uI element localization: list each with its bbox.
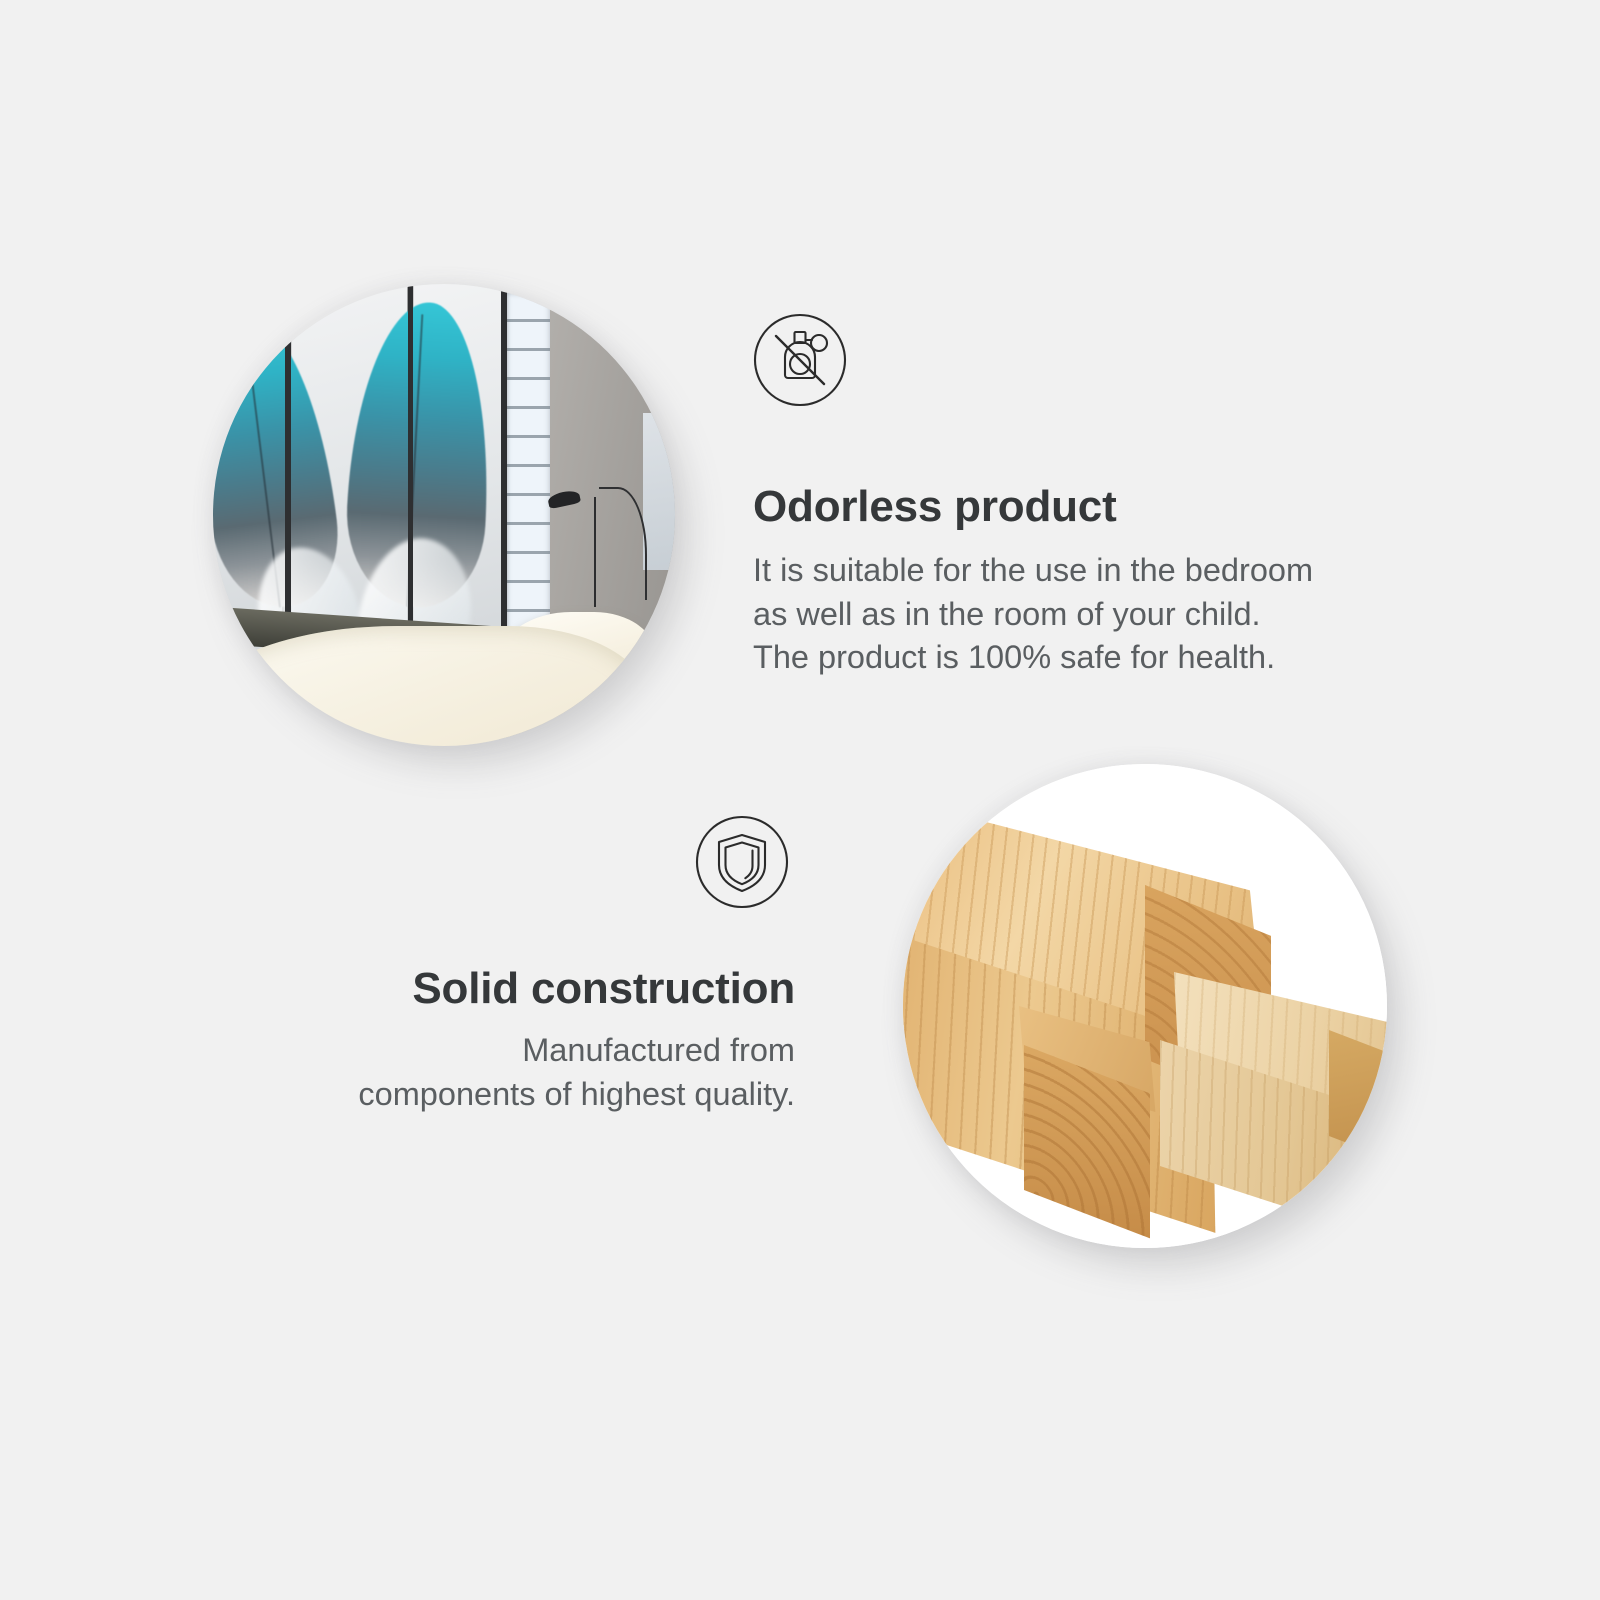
wood-stage [903,764,1387,1248]
glass-block-window [506,293,550,653]
infographic-canvas: Odorless product It is suitable for the … [0,0,1600,1600]
wooden-blocks-image [903,764,1387,1248]
odorless-feature-text: Odorless product It is suitable for the … [753,483,1453,680]
side-window [643,413,675,570]
panel-gap [408,284,414,654]
panel-gap [285,284,291,654]
shield-icon [694,814,790,910]
duvet [213,626,647,746]
feather-bedroom-image [213,284,675,746]
solid-construction-title: Solid construction [180,965,795,1013]
floor-lamp-arm [594,497,596,608]
odorless-title: Odorless product [753,483,1453,531]
no-odor-icon [752,312,848,408]
odorless-body: It is suitable for the use in the bedroo… [753,549,1453,680]
bedroom-scene [213,284,675,746]
solid-construction-body: Manufactured from components of highest … [180,1029,795,1116]
solid-construction-feature-text: Solid construction Manufactured from com… [180,965,795,1116]
panel-gap [501,284,507,654]
